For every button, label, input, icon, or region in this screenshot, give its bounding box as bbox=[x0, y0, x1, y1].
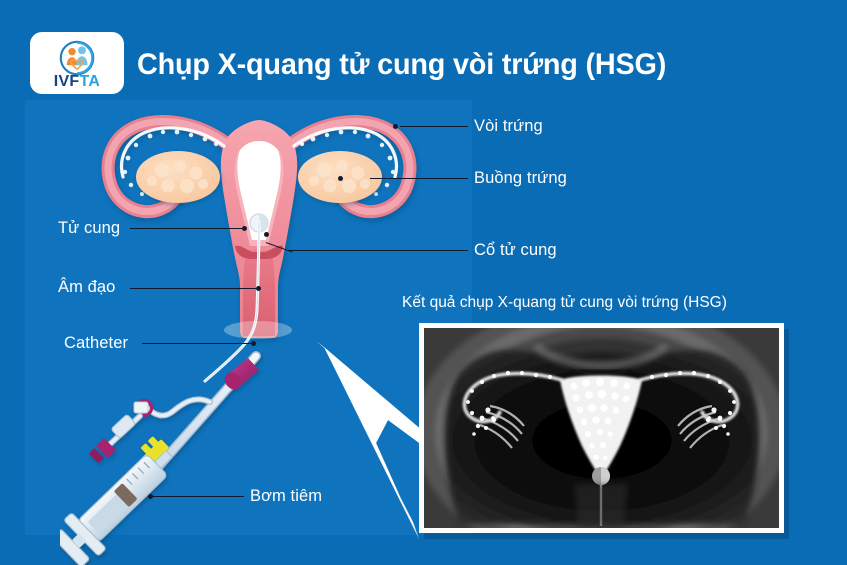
leader-dot-ovary bbox=[338, 176, 343, 181]
leader-line-uterus bbox=[130, 228, 246, 229]
leader-line-syringe bbox=[152, 496, 244, 497]
leader-line-cervix bbox=[288, 250, 468, 251]
leader-dot-vagina bbox=[256, 286, 261, 291]
leader-dot-syringe bbox=[148, 494, 153, 499]
leader-line-ovary bbox=[370, 178, 468, 179]
label-syringe: Bơm tiêm bbox=[250, 487, 322, 506]
hsg-xray-image bbox=[424, 328, 779, 528]
leader-dot-cervix bbox=[264, 232, 269, 237]
leader-dot-uterus bbox=[242, 226, 247, 231]
infographic-root: IVFTA Chụp X-quang tử cung vòi trứng (HS… bbox=[0, 0, 847, 565]
syringe-catheter-assembly bbox=[60, 350, 360, 565]
label-catheter: Catheter bbox=[64, 334, 128, 353]
label-uterus: Tử cung bbox=[58, 219, 120, 238]
label-cervix: Cổ tử cung bbox=[474, 241, 557, 260]
ovary-left bbox=[136, 151, 220, 203]
label-fallopian-tube: Vòi trứng bbox=[474, 117, 543, 136]
xray-panel[interactable] bbox=[419, 323, 784, 533]
inset-caption: Kết quả chụp X-quang tử cung vòi trứng (… bbox=[402, 294, 727, 312]
leader-dot-catheter bbox=[251, 341, 256, 346]
leader-dot-fallopian-tube bbox=[393, 124, 398, 129]
label-ovary: Buồng trứng bbox=[474, 169, 567, 188]
label-vagina: Âm đạo bbox=[58, 278, 115, 297]
leader-line-catheter bbox=[142, 343, 255, 344]
leader-line-fallopian-tube bbox=[400, 126, 468, 127]
leader-line-vagina bbox=[130, 288, 260, 289]
